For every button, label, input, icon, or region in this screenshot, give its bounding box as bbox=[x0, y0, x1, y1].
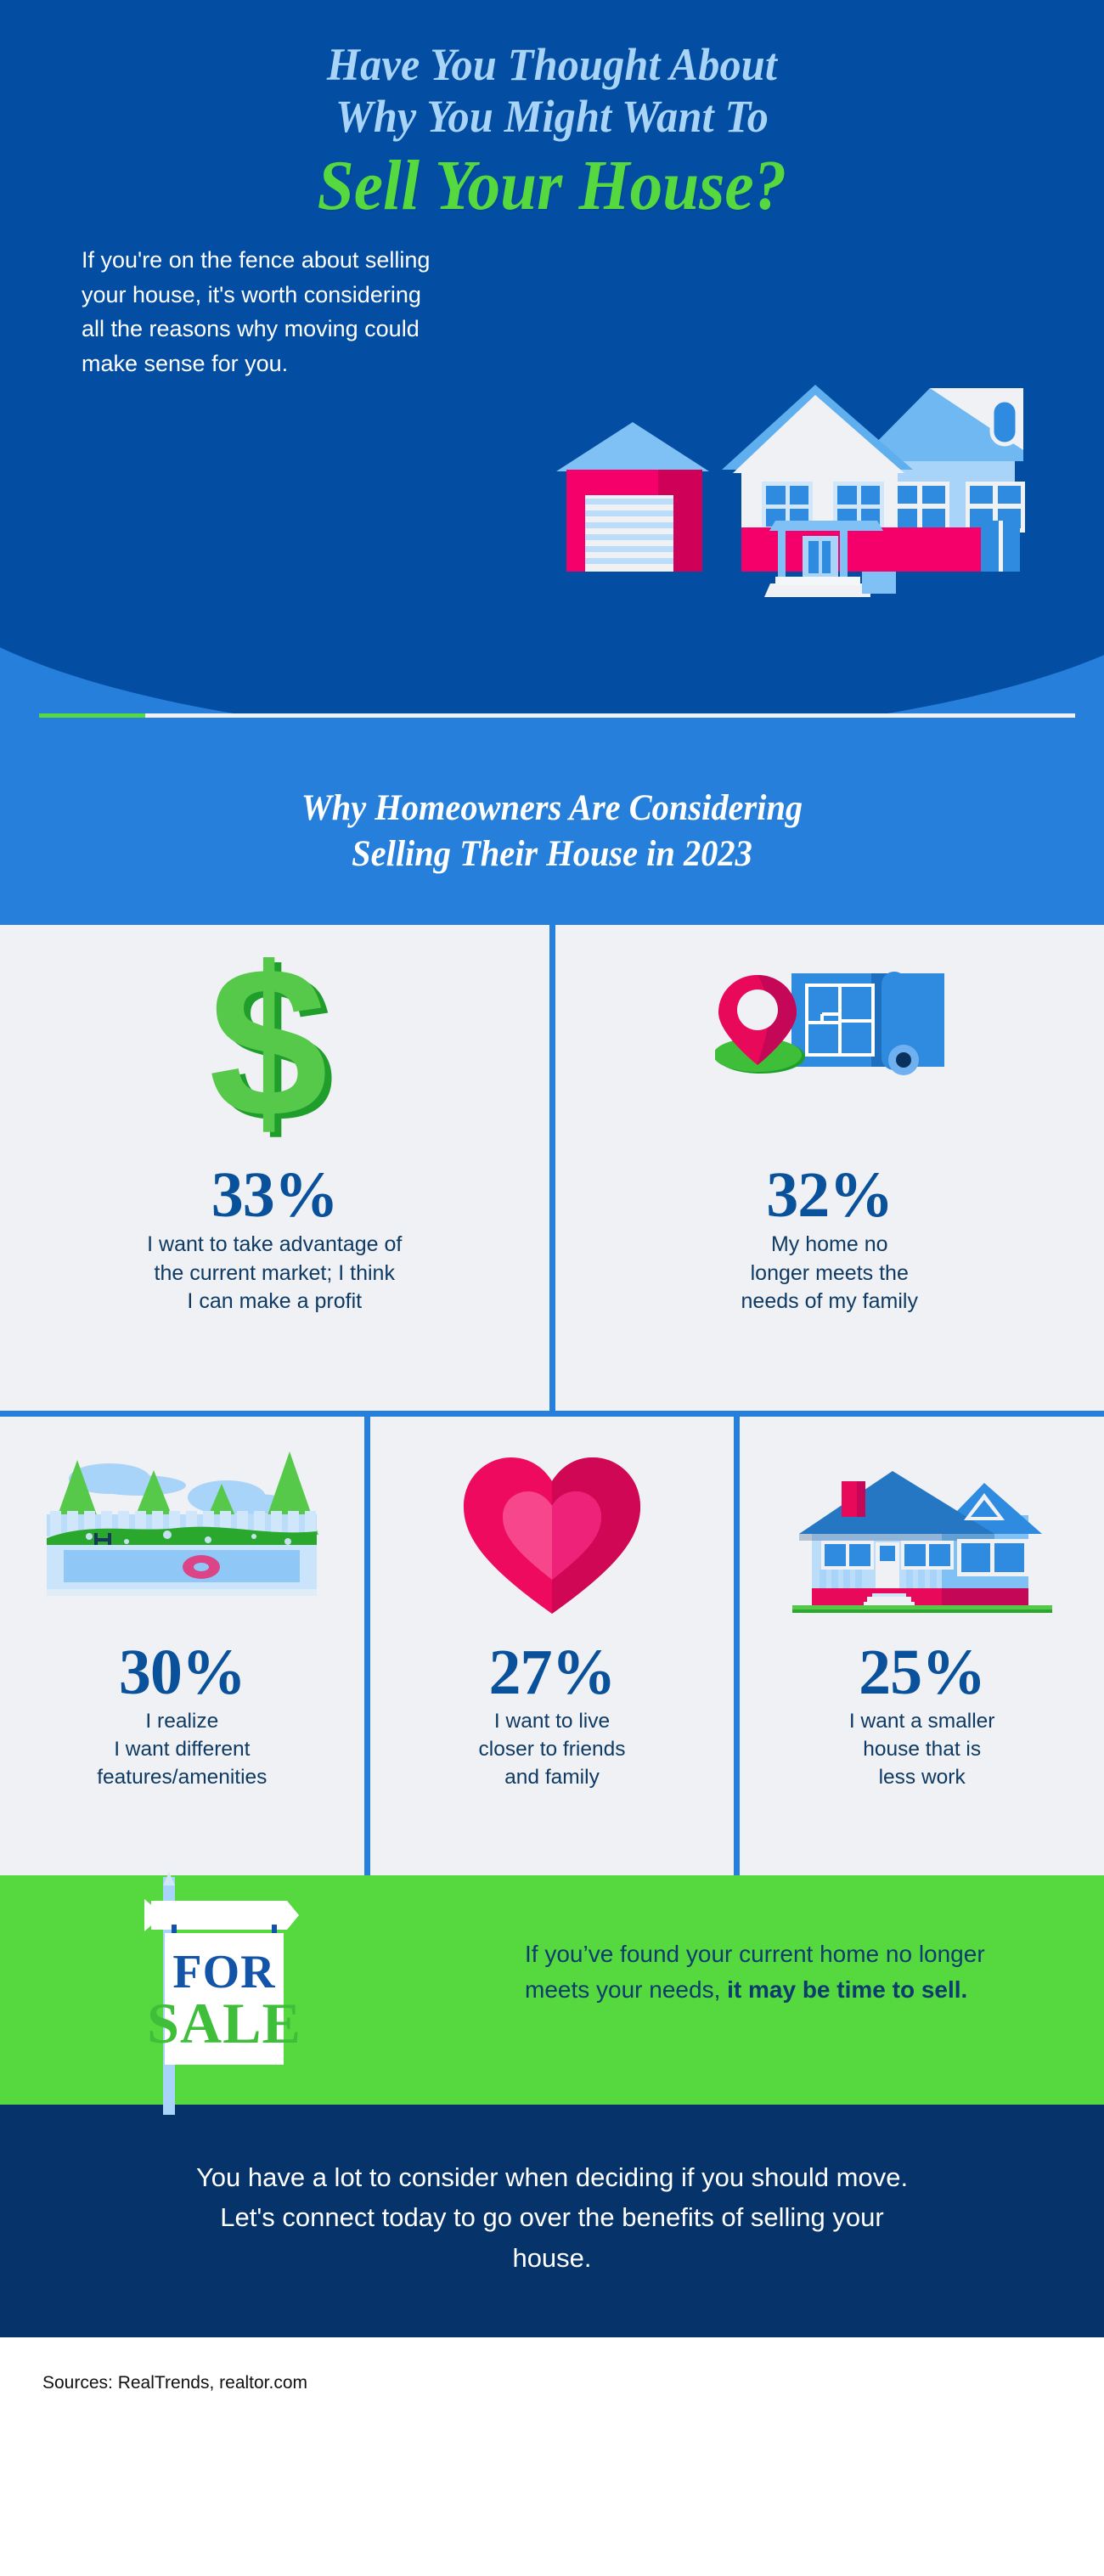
stat-label-line: needs of my family bbox=[741, 1288, 918, 1316]
section-heading-line-2: Selling Their House in 2023 bbox=[33, 831, 1071, 877]
stat-label-line: less work bbox=[849, 1764, 995, 1792]
title-line-2: Why You Might Want To bbox=[39, 91, 1066, 143]
for-sale-sign-icon: FOR SALE bbox=[144, 1869, 450, 2115]
stat-label: I want a smaller house that is less work bbox=[849, 1708, 995, 1791]
sources-band: Sources: RealTrends, realtor.com bbox=[0, 2337, 1104, 2422]
stat-card-30: 30% I realize I want different features/… bbox=[0, 1417, 364, 1875]
stat-label-line: My home no bbox=[741, 1231, 918, 1260]
stat-percent: 27% bbox=[489, 1640, 616, 1705]
for-sale-banner: FOR SALE If you’ve found your current ho… bbox=[0, 1875, 1104, 2105]
stat-label-line: I want a smaller bbox=[849, 1708, 995, 1736]
svg-text:$: $ bbox=[209, 955, 328, 1150]
hero-content: Have You Thought About Why You Might Wan… bbox=[0, 0, 1104, 225]
stat-label-line: I realize bbox=[97, 1708, 267, 1736]
stat-label-line: I can make a profit bbox=[147, 1288, 402, 1316]
stat-label-line: I want to live bbox=[479, 1708, 626, 1736]
stat-card-27: 27% I want to live closer to friends and… bbox=[370, 1417, 735, 1875]
stat-label-line: house that is bbox=[849, 1736, 995, 1764]
hero-section: Have You Thought About Why You Might Wan… bbox=[0, 0, 1104, 718]
quote-accent-bar: “ bbox=[39, 713, 145, 718]
stat-label: I want to take advantage of the current … bbox=[147, 1231, 402, 1316]
title-accent: Sell Your House? bbox=[44, 148, 1060, 225]
stat-label-line: the current market; I think bbox=[147, 1260, 402, 1288]
sources-text: Sources: RealTrends, realtor.com bbox=[42, 2373, 1104, 2393]
sale-banner-text: If you’ve found your current home no lon… bbox=[525, 1936, 1000, 2007]
stat-percent: 32% bbox=[766, 1163, 893, 1227]
stat-label-line: features/amenities bbox=[97, 1764, 267, 1792]
stat-card-25: 25% I want a smaller house that is less … bbox=[740, 1417, 1104, 1875]
cta-band: You have a lot to consider when deciding… bbox=[0, 2105, 1104, 2336]
stat-label: I want to live closer to friends and fam… bbox=[479, 1708, 626, 1791]
section-heading-band: Why Homeowners Are Considering Selling T… bbox=[0, 718, 1104, 925]
stat-label: My home no longer meets the needs of my … bbox=[741, 1231, 918, 1316]
quote-card: “ The most common sellers will be: Homeo… bbox=[39, 713, 1075, 718]
sale-text-bold: it may be time to sell. bbox=[727, 1976, 967, 2003]
intro-paragraph: If you're on the fence about selling you… bbox=[82, 243, 447, 380]
title-line-1: Have You Thought About bbox=[39, 39, 1066, 91]
stat-card-32: 32% My home no longer meets the needs of… bbox=[555, 925, 1104, 1411]
stat-label-line: I want to take advantage of bbox=[147, 1231, 402, 1260]
stat-percent: 33% bbox=[211, 1163, 338, 1227]
stat-label-line: I want different bbox=[97, 1736, 267, 1764]
dollar-sign-icon: $ $ bbox=[194, 954, 355, 1151]
page-title: Have You Thought About Why You Might Wan… bbox=[0, 0, 1104, 225]
stats-row-2: 30% I realize I want different features/… bbox=[0, 1417, 1104, 1875]
infographic-page: Have You Thought About Why You Might Wan… bbox=[0, 0, 1104, 2422]
cta-text: You have a lot to consider when deciding… bbox=[187, 2157, 917, 2277]
svg-text:SALE: SALE bbox=[147, 1991, 301, 2055]
backyard-pool-icon bbox=[42, 1446, 322, 1628]
map-pin-blueprint-icon bbox=[715, 954, 944, 1151]
stat-label-line: closer to friends bbox=[479, 1736, 626, 1764]
two-story-house-with-garage-icon bbox=[531, 369, 1040, 624]
statistics-grid: $ $ 33% I want to take advantage of the … bbox=[0, 925, 1104, 1875]
stat-label-line: longer meets the bbox=[741, 1260, 918, 1288]
heart-icon bbox=[459, 1446, 645, 1628]
stat-label: I realize I want different features/amen… bbox=[97, 1708, 267, 1791]
stat-card-33: $ $ 33% I want to take advantage of the … bbox=[0, 925, 549, 1411]
stat-label-line: and family bbox=[479, 1764, 626, 1792]
stat-percent: 25% bbox=[859, 1640, 985, 1705]
quote-body: The most common sellers will be: Homeown… bbox=[145, 713, 1075, 718]
stat-percent: 30% bbox=[119, 1640, 245, 1705]
stats-row-1: $ $ 33% I want to take advantage of the … bbox=[0, 925, 1104, 1411]
section-heading-line-1: Why Homeowners Are Considering bbox=[33, 786, 1071, 831]
small-house-icon bbox=[791, 1446, 1054, 1628]
